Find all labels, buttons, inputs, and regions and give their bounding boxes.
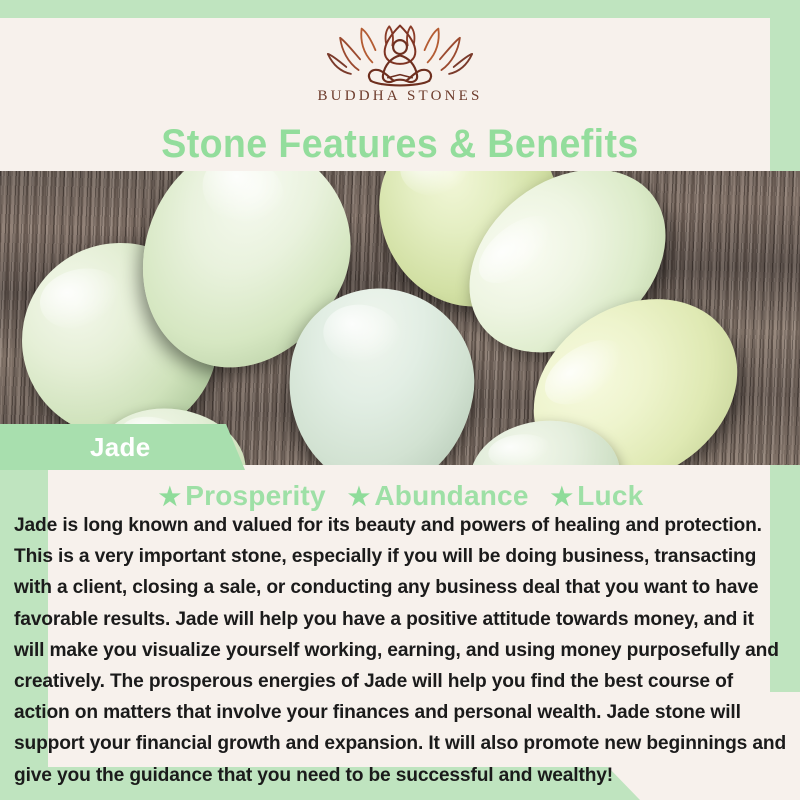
- lotus-meditation-icon: [320, 24, 480, 90]
- benefit-luck: Luck: [577, 480, 643, 511]
- description-block: Jade is long known and valued for its be…: [14, 510, 788, 791]
- poster-root: BUDDHA STONES Stone Features & Benefits …: [0, 0, 800, 800]
- benefit-abundance: Abundance: [374, 480, 528, 511]
- brand-wordmark: BUDDHA STONES: [305, 88, 495, 105]
- stone-name-label: Jade: [90, 430, 290, 464]
- stone-photo: [0, 171, 800, 465]
- benefits-row: ★Prosperity★Abundance★Luck: [0, 480, 800, 512]
- star-icon: ★: [551, 483, 574, 511]
- star-icon: ★: [348, 483, 371, 511]
- decorative-band-top: [0, 0, 800, 18]
- star-icon: ★: [159, 483, 182, 511]
- brand-logo: BUDDHA STONES: [305, 24, 495, 124]
- benefit-prosperity: Prosperity: [185, 480, 326, 511]
- page-title-container: Stone Features & Benefits: [0, 119, 800, 171]
- page-title: Stone Features & Benefits: [161, 119, 638, 169]
- description-text: Jade is long known and valued for its be…: [14, 510, 788, 791]
- brand-header: BUDDHA STONES: [0, 18, 800, 118]
